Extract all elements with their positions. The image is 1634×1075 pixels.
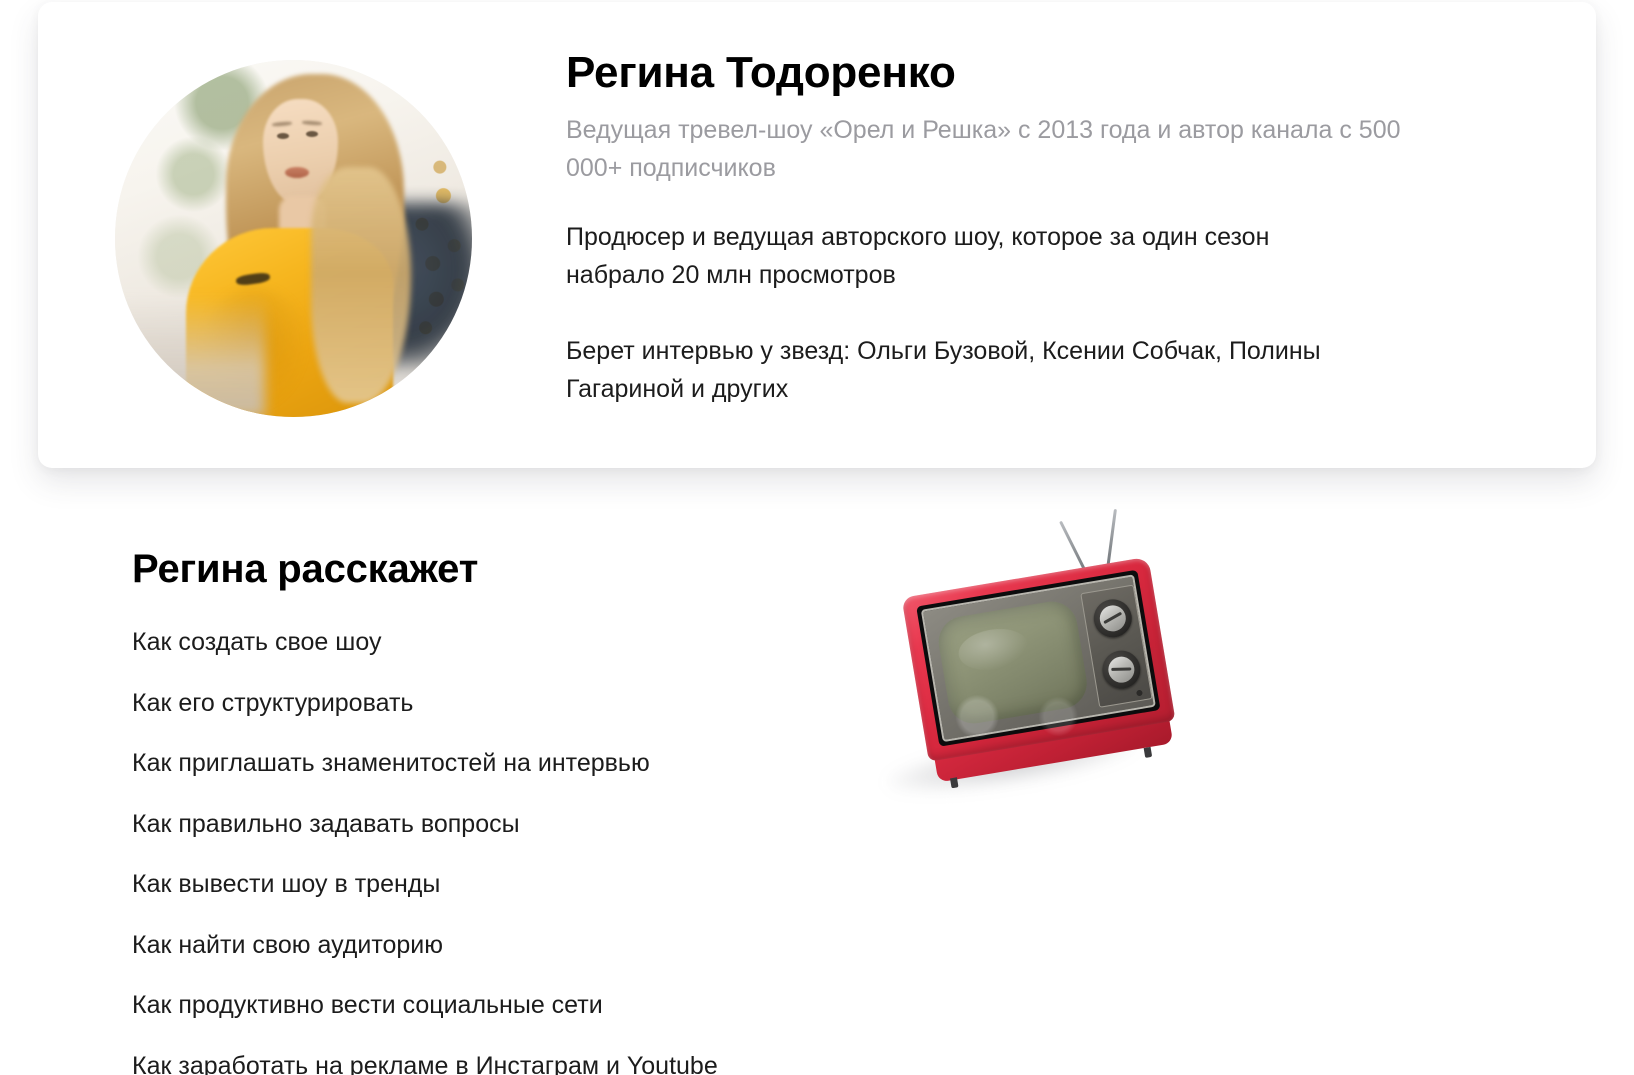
topics-section: Регина расскажет Как создать свое шоу Ка… <box>132 545 892 1075</box>
tv-foot-right <box>1144 747 1153 758</box>
tv-indicator-led <box>1136 690 1143 697</box>
avatar <box>115 60 472 417</box>
tv-screen-glare <box>955 624 1031 675</box>
topics-title: Регина расскажет <box>132 545 892 593</box>
list-item: Как вывести шоу в тренды <box>132 871 892 899</box>
speaker-text-block: Регина Тодоренко Ведущая тревел-шоу «Оре… <box>566 48 1466 408</box>
tv-icon <box>902 557 1181 792</box>
avatar-hair-strands <box>311 167 411 403</box>
tv-control-panel <box>1080 585 1152 708</box>
avatar-photo <box>115 60 472 417</box>
list-item: Как заработать на рекламе в Инстаграм и … <box>132 1053 892 1075</box>
list-item: Как приглашать знаменитостей на интервью <box>132 750 892 778</box>
topics-list: Как создать свое шоу Как его структуриро… <box>132 629 892 1075</box>
tv-knob-top[interactable] <box>1091 597 1135 641</box>
tv-foot-left <box>950 777 959 788</box>
retro-tv-illustration <box>868 528 1178 818</box>
list-item: Как его структурировать <box>132 690 892 718</box>
tv-bezel <box>916 570 1160 747</box>
speaker-card: Регина Тодоренко Ведущая тревел-шоу «Оре… <box>38 2 1596 468</box>
tv-screen <box>935 598 1091 728</box>
speaker-name: Регина Тодоренко <box>566 48 1466 99</box>
speaker-page: Регина Тодоренко Ведущая тревел-шоу «Оре… <box>0 0 1634 1075</box>
list-item: Как найти свою аудиторию <box>132 932 892 960</box>
speaker-paragraph-1: Продюсер и ведущая авторского шоу, котор… <box>566 218 1366 294</box>
list-item: Как создать свое шоу <box>132 629 892 657</box>
tv-inner-frame <box>921 574 1156 742</box>
avatar-mouth <box>285 167 309 178</box>
tv-knob-bottom[interactable] <box>1100 648 1144 692</box>
speaker-subtitle: Ведущая тревел-шоу «Орел и Решка» с 2013… <box>566 111 1436 189</box>
avatar-background-ground <box>115 296 265 417</box>
list-item: Как правильно задавать вопросы <box>132 811 892 839</box>
speaker-paragraph-2: Берет интервью у звезд: Ольги Бузовой, К… <box>566 332 1366 408</box>
list-item: Как продуктивно вести социальные сети <box>132 992 892 1020</box>
